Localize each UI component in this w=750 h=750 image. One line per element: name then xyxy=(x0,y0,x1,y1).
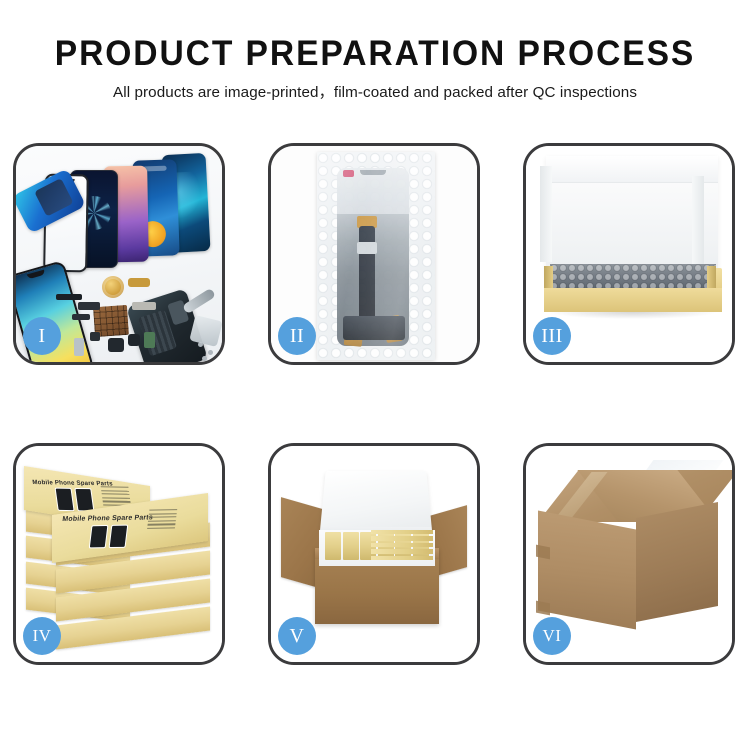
yellow-boxes-row-right xyxy=(371,530,433,560)
box-front-panel xyxy=(544,288,722,312)
yellow-box xyxy=(371,536,433,540)
step-badge-2: II xyxy=(278,317,316,355)
part-strip xyxy=(56,294,82,300)
header: PRODUCT PREPARATION PROCESS All products… xyxy=(0,34,750,102)
yellow-box xyxy=(343,532,359,560)
page-title: PRODUCT PREPARATION PROCESS xyxy=(15,34,735,74)
carton-face-right xyxy=(636,502,718,622)
part-sim-tray xyxy=(74,338,84,356)
yellow-box xyxy=(371,530,433,534)
step-panel-4: Mobile Phone Spare Parts Mobile Phone Sp… xyxy=(13,443,225,665)
page-subtitle: All products are image-printed，film-coat… xyxy=(0,83,750,102)
step-badge-4: IV xyxy=(23,617,61,655)
lcd-assembly xyxy=(337,168,409,346)
phone-thumbnail-icon xyxy=(89,525,109,549)
part-speaker-module xyxy=(108,338,124,352)
bubble-wrap-bag xyxy=(317,152,435,360)
yellow-box xyxy=(371,556,433,560)
yellow-box xyxy=(371,549,433,553)
part-flex-cable-gold xyxy=(128,278,150,287)
yellow-box xyxy=(371,543,433,547)
lcd-notch xyxy=(360,170,386,175)
step-badge-6: VI xyxy=(533,617,571,655)
carton-tape-upper xyxy=(536,545,550,560)
phone-thumbnail-icon xyxy=(109,525,129,549)
box-label-specs-lines xyxy=(147,509,177,531)
yellow-box xyxy=(325,532,341,560)
foam-lid-right-edge xyxy=(692,176,704,272)
step-panel-3: III xyxy=(523,143,735,365)
part-battery xyxy=(144,332,155,348)
foam-lid-white xyxy=(546,156,718,276)
part-button xyxy=(90,332,100,341)
part-flex-cable-dark xyxy=(78,302,100,310)
step-panel-6: VI xyxy=(523,443,735,665)
carton-tape-lower xyxy=(536,601,550,616)
box-label-thumbnails xyxy=(89,525,129,549)
phone-thumbnail-icon xyxy=(55,488,75,512)
part-flex-cable-grey xyxy=(132,302,156,310)
carton-face-left xyxy=(538,510,636,629)
copper-coil-part xyxy=(102,276,124,298)
box-label-thumbnails xyxy=(55,488,95,512)
part-camera-module xyxy=(128,334,140,346)
lcd-driver-ic xyxy=(357,242,377,254)
process-steps-grid: I xyxy=(13,143,737,687)
part-cable xyxy=(72,314,90,320)
step-panel-2: II xyxy=(268,143,480,365)
bubble-texture xyxy=(550,264,716,290)
step-badge-5: V xyxy=(278,617,316,655)
phone-thumbnail-icon xyxy=(74,488,94,512)
box-label-text: Mobile Phone Spare Parts xyxy=(62,514,153,523)
step-badge-3: III xyxy=(533,317,571,355)
step-panel-1: I xyxy=(13,143,225,365)
product-preparation-page: PRODUCT PREPARATION PROCESS All products… xyxy=(0,0,750,750)
box-shadow xyxy=(550,312,716,319)
screw-icon xyxy=(208,350,213,355)
step-panel-5: V xyxy=(268,443,480,665)
lcd-qc-sticker xyxy=(343,170,354,177)
step-badge-1: I xyxy=(23,317,61,355)
screw-icon xyxy=(202,356,207,361)
foam-lid-open xyxy=(320,471,432,530)
lcd-bottom-frame xyxy=(343,316,405,340)
